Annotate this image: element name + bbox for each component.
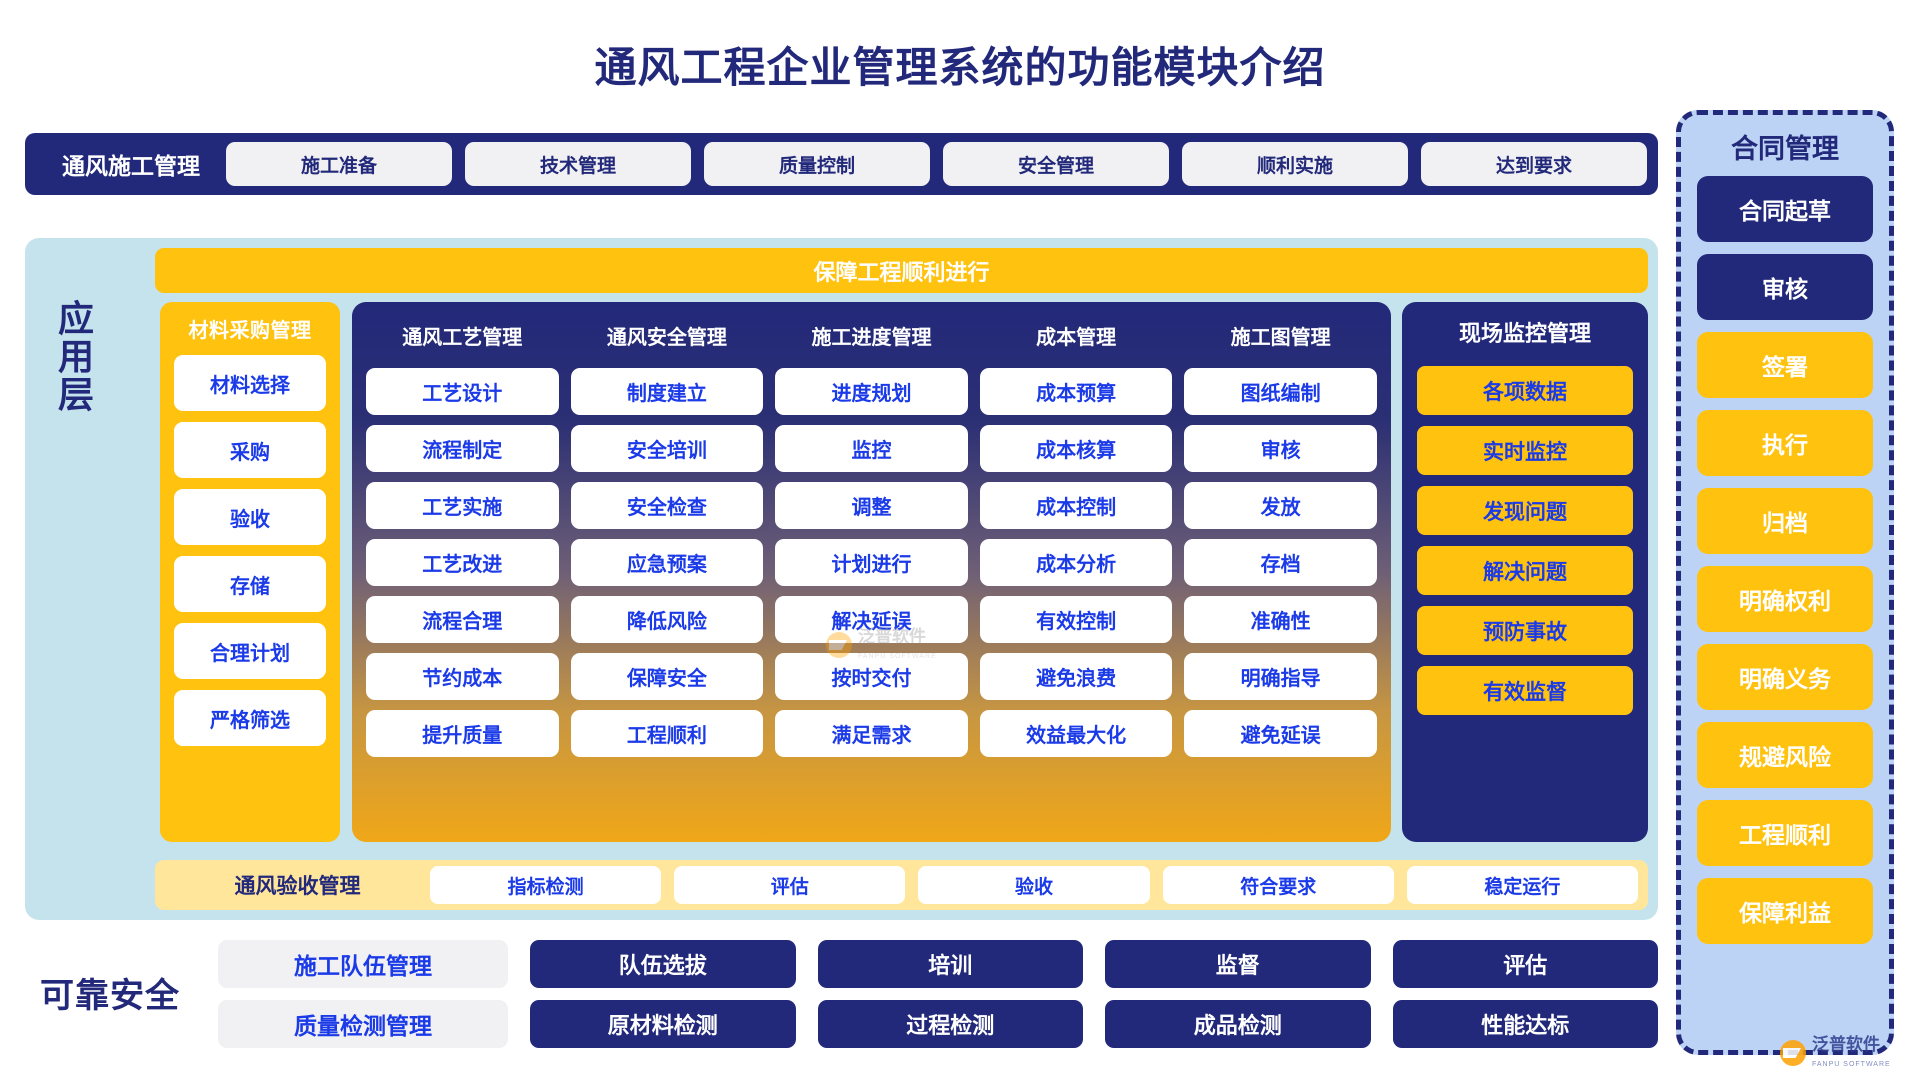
topbar-chip[interactable]: 达到要求	[1421, 142, 1647, 186]
bottom-chip[interactable]: 监督	[1105, 940, 1371, 988]
bottom-module-grid: 施工队伍管理队伍选拔培训监督评估质量检测管理原材料检测过程检测成品检测性能达标	[218, 940, 1658, 1048]
contract-item[interactable]: 执行	[1697, 410, 1873, 476]
bottom-chip[interactable]: 培训	[818, 940, 1084, 988]
module-item[interactable]: 工艺实施	[366, 482, 559, 529]
site-monitoring-item-list: 各项数据实时监控发现问题解决问题预防事故有效监督	[1417, 366, 1633, 726]
topbar-chip[interactable]: 施工准备	[226, 142, 452, 186]
acceptance-chip-list: 指标检测评估验收符合要求稳定运行	[430, 866, 1638, 904]
site-monitoring-item[interactable]: 预防事故	[1417, 606, 1633, 655]
module-item[interactable]: 安全培训	[571, 425, 764, 472]
module-column: 施工图管理图纸编制审核发放存档准确性明确指导避免延误	[1184, 318, 1377, 828]
module-column-heading: 通风工艺管理	[366, 318, 559, 358]
module-column-heading: 施工进度管理	[775, 318, 968, 358]
bottom-chip[interactable]: 原材料检测	[530, 1000, 796, 1048]
module-item[interactable]: 流程合理	[366, 596, 559, 643]
site-monitoring-item[interactable]: 实时监控	[1417, 426, 1633, 475]
module-item[interactable]: 效益最大化	[980, 710, 1173, 757]
core-modules-panel: 通风工艺管理工艺设计流程制定工艺实施工艺改进流程合理节约成本提升质量通风安全管理…	[352, 302, 1391, 842]
material-item[interactable]: 采购	[174, 422, 326, 478]
bottom-chip[interactable]: 过程检测	[818, 1000, 1084, 1048]
infographic-root: 通风工程企业管理系统的功能模块介绍 通风施工管理 施工准备技术管理质量控制安全管…	[0, 0, 1920, 1080]
module-item[interactable]: 审核	[1184, 425, 1377, 472]
module-item[interactable]: 准确性	[1184, 596, 1377, 643]
module-item[interactable]: 避免浪费	[980, 653, 1173, 700]
contract-item[interactable]: 合同起草	[1697, 176, 1873, 242]
module-item[interactable]: 制度建立	[571, 368, 764, 415]
ventilation-acceptance-row: 通风验收管理 指标检测评估验收符合要求稳定运行	[155, 860, 1648, 910]
contract-item[interactable]: 工程顺利	[1697, 800, 1873, 866]
acceptance-title: 通风验收管理	[165, 870, 430, 900]
module-item[interactable]: 工程顺利	[571, 710, 764, 757]
site-monitoring-item[interactable]: 有效监督	[1417, 666, 1633, 715]
topbar-chip[interactable]: 技术管理	[465, 142, 691, 186]
contract-item[interactable]: 明确权利	[1697, 566, 1873, 632]
module-item[interactable]: 工艺设计	[366, 368, 559, 415]
module-item[interactable]: 图纸编制	[1184, 368, 1377, 415]
material-item[interactable]: 验收	[174, 489, 326, 545]
contract-item-list: 合同起草审核签署执行归档明确权利明确义务规避风险工程顺利保障利益	[1697, 176, 1873, 956]
contract-management-title: 合同管理	[1697, 127, 1873, 166]
ventilation-construction-bar: 通风施工管理 施工准备技术管理质量控制安全管理顺利实施达到要求	[25, 133, 1658, 195]
contract-item[interactable]: 归档	[1697, 488, 1873, 554]
module-item[interactable]: 工艺改进	[366, 539, 559, 586]
module-item[interactable]: 安全检查	[571, 482, 764, 529]
acceptance-chip[interactable]: 符合要求	[1163, 866, 1394, 904]
module-item[interactable]: 满足需求	[775, 710, 968, 757]
module-item[interactable]: 计划进行	[775, 539, 968, 586]
site-monitoring-column: 现场监控管理 各项数据实时监控发现问题解决问题预防事故有效监督	[1402, 302, 1648, 842]
site-monitoring-item[interactable]: 发现问题	[1417, 486, 1633, 535]
contract-item[interactable]: 审核	[1697, 254, 1873, 320]
module-item[interactable]: 调整	[775, 482, 968, 529]
module-item[interactable]: 发放	[1184, 482, 1377, 529]
module-item[interactable]: 监控	[775, 425, 968, 472]
contract-item[interactable]: 签署	[1697, 332, 1873, 398]
module-item[interactable]: 解决延误	[775, 596, 968, 643]
module-column-heading: 通风安全管理	[571, 318, 764, 358]
bottom-chip[interactable]: 评估	[1393, 940, 1659, 988]
topbar-title: 通风施工管理	[36, 147, 226, 181]
bottom-chip[interactable]: 成品检测	[1105, 1000, 1371, 1048]
topbar-chip-list: 施工准备技术管理质量控制安全管理顺利实施达到要求	[226, 142, 1647, 186]
module-column: 通风安全管理制度建立安全培训安全检查应急预案降低风险保障安全工程顺利	[571, 318, 764, 828]
material-item[interactable]: 材料选择	[174, 355, 326, 411]
site-monitoring-heading: 现场监控管理	[1417, 316, 1633, 348]
contract-item[interactable]: 保障利益	[1697, 878, 1873, 944]
module-item[interactable]: 成本分析	[980, 539, 1173, 586]
acceptance-chip[interactable]: 评估	[674, 866, 905, 904]
bottom-row: 质量检测管理原材料检测过程检测成品检测性能达标	[218, 1000, 1658, 1048]
material-item[interactable]: 严格筛选	[174, 690, 326, 746]
module-item[interactable]: 节约成本	[366, 653, 559, 700]
module-item[interactable]: 成本预算	[980, 368, 1173, 415]
module-column: 施工进度管理进度规划监控调整计划进行解决延误按时交付满足需求	[775, 318, 968, 828]
application-layer-label: 应用层	[48, 300, 106, 413]
module-item[interactable]: 进度规划	[775, 368, 968, 415]
topbar-chip[interactable]: 安全管理	[943, 142, 1169, 186]
acceptance-chip[interactable]: 验收	[918, 866, 1149, 904]
material-item-list: 材料选择采购验收存储合理计划严格筛选	[174, 355, 326, 757]
module-item[interactable]: 提升质量	[366, 710, 559, 757]
contract-item[interactable]: 规避风险	[1697, 722, 1873, 788]
topbar-chip[interactable]: 顺利实施	[1182, 142, 1408, 186]
module-column-heading: 成本管理	[980, 318, 1173, 358]
module-item[interactable]: 降低风险	[571, 596, 764, 643]
bottom-row-name[interactable]: 质量检测管理	[218, 1000, 508, 1048]
bottom-chip[interactable]: 性能达标	[1393, 1000, 1659, 1048]
bottom-row-name[interactable]: 施工队伍管理	[218, 940, 508, 988]
module-item[interactable]: 避免延误	[1184, 710, 1377, 757]
material-item[interactable]: 存储	[174, 556, 326, 612]
module-item[interactable]: 应急预案	[571, 539, 764, 586]
module-column-heading: 施工图管理	[1184, 318, 1377, 358]
material-item[interactable]: 合理计划	[174, 623, 326, 679]
module-column: 通风工艺管理工艺设计流程制定工艺实施工艺改进流程合理节约成本提升质量	[366, 318, 559, 828]
acceptance-chip[interactable]: 指标检测	[430, 866, 661, 904]
page-title: 通风工程企业管理系统的功能模块介绍	[0, 34, 1920, 95]
module-item[interactable]: 明确指导	[1184, 653, 1377, 700]
module-item[interactable]: 流程制定	[366, 425, 559, 472]
module-item[interactable]: 有效控制	[980, 596, 1173, 643]
module-item[interactable]: 成本控制	[980, 482, 1173, 529]
module-item[interactable]: 按时交付	[775, 653, 968, 700]
material-procurement-heading: 材料采购管理	[174, 314, 326, 343]
module-item[interactable]: 成本核算	[980, 425, 1173, 472]
bottom-chip-list: 原材料检测过程检测成品检测性能达标	[530, 1000, 1658, 1048]
module-column: 成本管理成本预算成本核算成本控制成本分析有效控制避免浪费效益最大化	[980, 318, 1173, 828]
reliable-safety-label: 可靠安全	[40, 968, 180, 1017]
acceptance-chip[interactable]: 稳定运行	[1407, 866, 1638, 904]
assurance-banner: 保障工程顺利进行	[155, 248, 1648, 293]
material-procurement-column: 材料采购管理 材料选择采购验收存储合理计划严格筛选	[160, 302, 340, 842]
bottom-row: 施工队伍管理队伍选拔培训监督评估	[218, 940, 1658, 988]
topbar-chip[interactable]: 质量控制	[704, 142, 930, 186]
bottom-chip[interactable]: 队伍选拔	[530, 940, 796, 988]
contract-item[interactable]: 明确义务	[1697, 644, 1873, 710]
contract-management-panel: 合同管理 合同起草审核签署执行归档明确权利明确义务规避风险工程顺利保障利益	[1676, 110, 1894, 1055]
bottom-chip-list: 队伍选拔培训监督评估	[530, 940, 1658, 988]
module-item[interactable]: 保障安全	[571, 653, 764, 700]
watermark-brand-en: FANPU SOFTWARE	[1812, 1061, 1891, 1068]
site-monitoring-item[interactable]: 解决问题	[1417, 546, 1633, 595]
module-item[interactable]: 存档	[1184, 539, 1377, 586]
site-monitoring-item[interactable]: 各项数据	[1417, 366, 1633, 415]
